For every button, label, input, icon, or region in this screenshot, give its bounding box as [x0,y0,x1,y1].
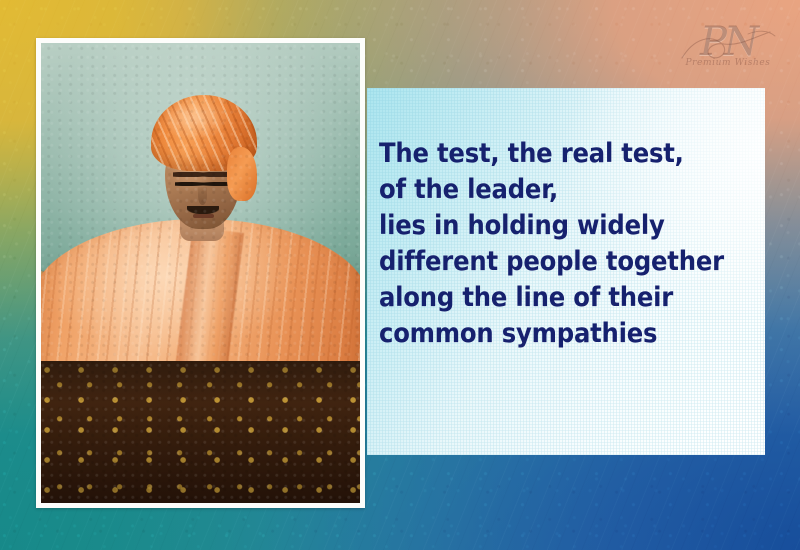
portrait-photo-card [36,38,365,508]
quote-line: of the leader, [379,172,751,208]
quote-card-canvas: PN Premium Wishes [0,0,800,550]
quote-line: lies in holding widely [379,208,751,244]
quote-line: common sympathies [379,316,751,352]
watermark: PN Premium Wishes [672,22,784,84]
portrait-photo [41,43,360,503]
quote-line: different people together [379,244,751,280]
quote-line: along the line of their [379,280,751,316]
quote-line: The test, the real test, [379,136,751,172]
photo-grain [41,43,360,503]
quote-text: The test, the real test, of the leader, … [379,136,751,352]
quote-panel: The test, the real test, of the leader, … [367,88,765,455]
watermark-flourish-icon [678,28,778,72]
